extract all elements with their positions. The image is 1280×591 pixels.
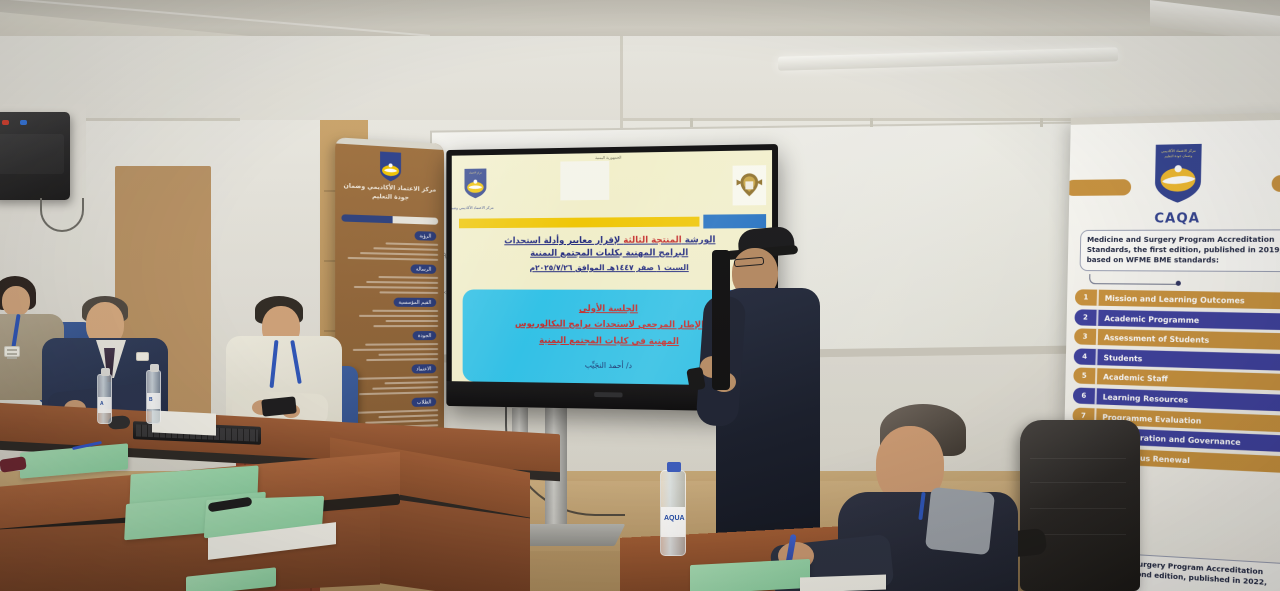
banner-left-text-lines bbox=[341, 241, 438, 264]
banner-left-section-chip: الاعتماد bbox=[411, 364, 436, 373]
svg-text:وضمان جودة التعليم: وضمان جودة التعليم bbox=[1165, 154, 1193, 159]
slide-title-line-1: الورشة المنتجة الثالثة لإقرار معايير وأد… bbox=[464, 234, 758, 248]
slide-caqa-logo-icon: مركز الاعتماد مركز الاعتماد الأكاديمي وض… bbox=[457, 166, 493, 211]
standard-number: 5 bbox=[1073, 368, 1095, 385]
banner-left-section-chip: الرسالة bbox=[411, 264, 436, 274]
caqa-abbrev: CAQA bbox=[1149, 211, 1205, 227]
mobile-phone[interactable] bbox=[261, 396, 297, 416]
slide-blue-bar bbox=[703, 214, 766, 228]
caqa-logo: مركز الاعتماد الأكاديمي وضمان جودة التعل… bbox=[1149, 141, 1206, 226]
standard-label: Academic Programme bbox=[1096, 309, 1280, 330]
slide-emblem-caption: الجمهورية اليمنية bbox=[595, 155, 621, 160]
svg-text:مركز الاعتماد الأكاديمي: مركز الاعتماد الأكاديمي bbox=[1161, 148, 1196, 154]
paper-sheet[interactable] bbox=[152, 410, 216, 435]
slide-session-line-3: المهنية في كليات المجتمع اليمنية bbox=[539, 335, 679, 349]
slide-header: الجمهورية اليمنية مركز الاعتماد bbox=[452, 150, 772, 219]
banner-left-title: مركز الاعتماد الأكاديمي وضمان جودة التعل… bbox=[339, 181, 440, 204]
wall-seam bbox=[620, 36, 623, 136]
banner-left-section-chip: القيم المؤسسية bbox=[394, 298, 437, 307]
water-bottle[interactable]: B bbox=[146, 370, 161, 424]
banner-left-section-chip: الطلاب bbox=[412, 397, 436, 407]
svg-text:مركز الاعتماد: مركز الاعتماد bbox=[469, 172, 482, 175]
caqa-shield-icon bbox=[377, 150, 403, 182]
banner-note-connector bbox=[1089, 274, 1178, 285]
slide-presenter-name: د/ أحمد النجَيِّب bbox=[585, 361, 632, 370]
speaker-grill bbox=[0, 134, 64, 174]
standard-number: 4 bbox=[1074, 348, 1096, 365]
speaker-status-led bbox=[20, 120, 27, 125]
standard-row: 2Academic Programme bbox=[1074, 309, 1280, 330]
slide-gold-bar bbox=[459, 217, 699, 229]
water-bottle[interactable]: A bbox=[97, 374, 112, 424]
banner-left-text-lines bbox=[341, 343, 438, 365]
standard-number: 3 bbox=[1074, 329, 1096, 346]
slide-logo-caption: مركز الاعتماد الأكاديمي وضمان جودة التعل… bbox=[457, 205, 493, 210]
water-bottle-large[interactable]: AQUA bbox=[660, 470, 686, 556]
banner-left-text-lines bbox=[341, 275, 438, 297]
caqa-shield-icon: مركز الاعتماد الأكاديمي وضمان جودة التعل… bbox=[1150, 141, 1207, 205]
standard-number: 2 bbox=[1074, 309, 1096, 326]
standard-label: Assessment of Students bbox=[1096, 329, 1280, 351]
black-executive-chair[interactable] bbox=[1020, 420, 1140, 591]
standard-label: Mission and Learning Outcomes bbox=[1097, 290, 1280, 310]
green-folder[interactable] bbox=[690, 559, 810, 591]
banner-left-section-chip: الرؤية bbox=[414, 231, 436, 241]
paper-sheet[interactable] bbox=[800, 574, 886, 591]
wall-speaker bbox=[0, 112, 70, 200]
banner-accent-tab-right bbox=[1272, 175, 1280, 192]
slide-session-line-2: الإطار المرجعي لاستحداث برامج البكالوريو… bbox=[515, 319, 704, 333]
standard-number: 1 bbox=[1075, 289, 1097, 305]
banner-accent-tab-left bbox=[1065, 179, 1131, 196]
banner-left-text-lines bbox=[341, 310, 438, 331]
speaker-power-led bbox=[2, 120, 9, 125]
standard-number: 6 bbox=[1073, 387, 1095, 404]
slide-header-blank-box bbox=[560, 161, 609, 201]
room-scene: (١)ه ع جـ٩×٤(٥×٩)+١(×٩-ه×+٤(+٦)×٢ ٢ ]٣٦ … bbox=[0, 0, 1280, 591]
lapel-pin bbox=[136, 352, 149, 361]
standard-row: 1Mission and Learning Outcomes bbox=[1075, 289, 1280, 309]
banner-note-dot bbox=[1176, 281, 1181, 286]
banner-note-top: Medicine and Surgery Program Accreditati… bbox=[1080, 229, 1280, 271]
standard-row: 3Assessment of Students bbox=[1074, 329, 1280, 351]
slide-session-line-1: الجلسة الأولى bbox=[579, 303, 638, 316]
attendee-collar bbox=[925, 487, 995, 555]
microphone-stand bbox=[712, 250, 730, 390]
banner-left-section-chip: الجودة bbox=[413, 331, 436, 340]
display-brand-logo bbox=[594, 392, 622, 397]
banner-left-divider bbox=[341, 214, 438, 225]
id-badge bbox=[4, 346, 20, 357]
yemen-eagle-emblem-icon: الجمهورية اليمنية bbox=[733, 165, 766, 205]
